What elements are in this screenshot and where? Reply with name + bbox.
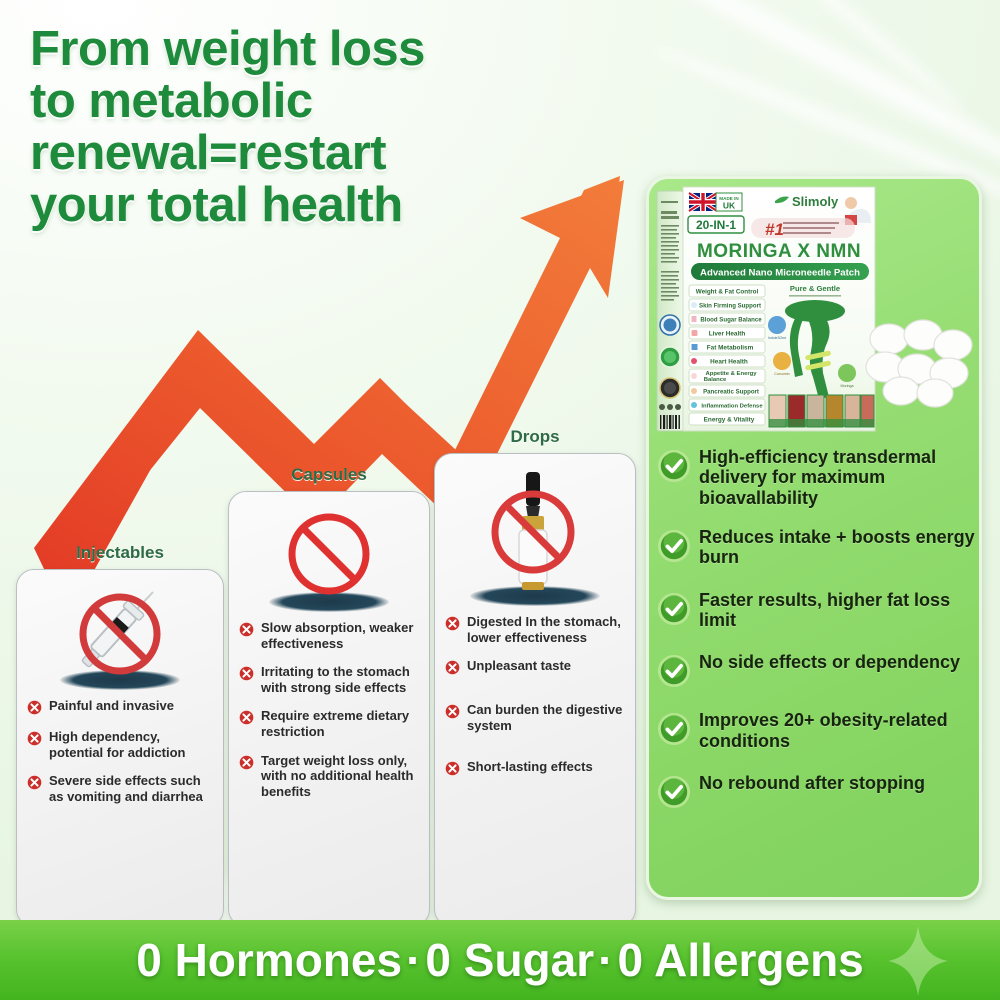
no-capsule-icon <box>274 508 384 612</box>
sparkle-icon <box>888 926 948 996</box>
list-item: Short-lasting effects <box>444 759 626 777</box>
svg-text:Slimoly: Slimoly <box>792 194 839 209</box>
microneedle-patches <box>865 319 975 409</box>
list-item: Slow absorption, weaker effectiveness <box>238 620 420 651</box>
cons-list: Slow absorption, weaker effectiveness Ir… <box>238 620 420 799</box>
red-x-icon <box>238 754 255 771</box>
svg-text:Pancreatic Support: Pancreatic Support <box>703 389 759 396</box>
svg-text:Blood Sugar Balance: Blood Sugar Balance <box>700 317 762 324</box>
benefit-text: No side effects or dependency <box>699 652 960 672</box>
no-dropper-bottle-icon <box>476 470 594 610</box>
con-text: Irritating to the stomach with strong si… <box>261 664 420 695</box>
svg-text:Heart Health: Heart Health <box>710 359 748 366</box>
benefit-text: No rebound after stopping <box>699 773 925 793</box>
product-package: MADE IN UK Slimoly 20-IN-1 <box>655 185 877 433</box>
red-x-icon <box>444 760 461 777</box>
svg-text:Weight & Fat Control: Weight & Fat Control <box>696 289 759 296</box>
package-feature-chips: Weight & Fat Control Skin Firming Suppor… <box>689 285 765 425</box>
svg-text:Balance: Balance <box>704 377 727 383</box>
red-x-icon <box>444 615 461 632</box>
svg-text:Liver Health: Liver Health <box>709 331 746 338</box>
list-item: Can burden the digestive system <box>444 702 626 733</box>
comparison-card-drops: Drops <box>434 427 636 901</box>
green-check-icon <box>657 712 691 746</box>
svg-text:Curcumin: Curcumin <box>774 372 789 376</box>
svg-text:Energy & Vitality: Energy & Vitality <box>704 417 755 424</box>
svg-text:20-IN-1: 20-IN-1 <box>696 218 736 232</box>
product-benefits-panel: MADE IN UK Slimoly 20-IN-1 <box>646 176 982 900</box>
claim-no-sugar: 0 Sugar <box>425 934 594 986</box>
headline-line-2: to metabolic <box>30 76 590 128</box>
product-infographic: From weight loss to metabolic renewal=re… <box>0 0 1000 1000</box>
benefit-item: Improves 20+ obesity-related conditions <box>657 710 979 751</box>
red-x-icon <box>444 659 461 676</box>
svg-text:#1: #1 <box>765 220 784 239</box>
comparison-card-capsules: Capsules Slow absorption, weaker effecti… <box>228 465 430 901</box>
benefit-item: High-efficiency transdermal delivery for… <box>657 447 979 508</box>
red-x-icon <box>26 699 43 716</box>
background-streak <box>731 0 969 117</box>
green-check-icon <box>657 592 691 626</box>
red-x-icon <box>238 621 255 638</box>
list-item: Target weight loss only, with no additio… <box>238 753 420 800</box>
con-text: Severe side effects such as vomiting and… <box>49 773 214 804</box>
list-item: Painful and invasive <box>26 698 214 716</box>
background-streak <box>584 0 1000 187</box>
card-body: Digested In the stomach, lower effective… <box>434 453 636 927</box>
banner-text: 0 Hormones·0 Sugar·0 Allergens <box>136 933 864 987</box>
list-item: High dependency, potential for addiction <box>26 729 214 760</box>
con-text: Target weight loss only, with no additio… <box>261 753 420 800</box>
svg-text:Pure & Gentle: Pure & Gentle <box>790 284 840 293</box>
red-x-icon <box>26 730 43 747</box>
red-x-icon <box>26 774 43 791</box>
svg-text:Indole3One: Indole3One <box>768 336 787 340</box>
green-check-icon <box>657 775 691 809</box>
benefit-item: Reduces intake + boosts energy burn <box>657 527 979 568</box>
red-x-icon <box>238 665 255 682</box>
svg-text:UK: UK <box>723 201 736 211</box>
con-text: High dependency, potential for addiction <box>49 729 214 760</box>
package-thumbnails <box>769 395 874 427</box>
green-check-icon <box>657 449 691 483</box>
con-text: Digested In the stomach, lower effective… <box>467 614 626 645</box>
separator-dot: · <box>598 934 613 986</box>
card-title: Capsules <box>228 465 430 485</box>
list-item: Digested In the stomach, lower effective… <box>444 614 626 645</box>
benefit-text: Faster results, higher fat loss limit <box>699 590 979 631</box>
svg-text:Skin Firming Support: Skin Firming Support <box>699 303 761 310</box>
cons-list: Digested In the stomach, lower effective… <box>444 614 626 777</box>
green-check-icon <box>657 529 691 563</box>
cons-list: Painful and invasive High dependency, po… <box>26 698 214 804</box>
list-item: Require extreme dietary restriction <box>238 708 420 739</box>
red-x-icon <box>444 703 461 720</box>
con-text: Unpleasant taste <box>467 658 571 674</box>
claims-banner: 0 Hormones·0 Sugar·0 Allergens <box>0 920 1000 1000</box>
ingredient-bubble: Moringa <box>838 364 856 388</box>
list-item: Unpleasant taste <box>444 658 626 676</box>
benefit-text: Improves 20+ obesity-related conditions <box>699 710 979 751</box>
separator-dot: · <box>406 934 421 986</box>
green-check-icon <box>657 654 691 688</box>
benefit-text: High-efficiency transdermal delivery for… <box>699 447 979 508</box>
benefit-item: No rebound after stopping <box>657 773 979 809</box>
card-body: Slow absorption, weaker effectiveness Ir… <box>228 491 430 927</box>
con-text: Can burden the digestive system <box>467 702 626 733</box>
card-illustration <box>238 500 420 618</box>
card-title: Drops <box>434 427 636 447</box>
svg-text:Advanced Nano Microneedle Patc: Advanced Nano Microneedle Patch <box>700 268 860 279</box>
made-in-uk-badge: MADE IN UK <box>689 193 742 211</box>
claim-no-allergens: 0 Allergens <box>617 934 863 986</box>
rank-badge: #1 <box>751 218 855 239</box>
list-item: Irritating to the stomach with strong si… <box>238 664 420 695</box>
svg-text:MORINGA X NMN: MORINGA X NMN <box>697 241 861 262</box>
claim-no-hormones: 0 Hormones <box>136 934 402 986</box>
con-text: Require extreme dietary restriction <box>261 708 420 739</box>
card-title: Injectables <box>16 543 224 563</box>
benefit-item: No side effects or dependency <box>657 652 979 688</box>
list-item: Severe side effects such as vomiting and… <box>26 773 214 804</box>
svg-text:Fat Metabolism: Fat Metabolism <box>707 345 754 352</box>
benefit-text: Reduces intake + boosts energy burn <box>699 527 979 568</box>
svg-text:Inflammation Defense: Inflammation Defense <box>701 404 763 410</box>
card-illustration <box>444 462 626 612</box>
ingredient-bubble: Curcumin <box>773 352 791 376</box>
headline-line-1: From weight loss <box>30 24 590 76</box>
con-text: Slow absorption, weaker effectiveness <box>261 620 420 651</box>
no-syringe-icon <box>61 586 179 694</box>
benefits-list: High-efficiency transdermal delivery for… <box>657 447 979 828</box>
benefit-item: Faster results, higher fat loss limit <box>657 590 979 631</box>
card-illustration <box>26 578 214 696</box>
combo-badge: 20-IN-1 <box>688 216 744 233</box>
ingredient-bubble: Indole3One <box>768 316 787 340</box>
svg-text:Moringa: Moringa <box>841 384 854 388</box>
card-body: Painful and invasive High dependency, po… <box>16 569 224 927</box>
comparison-card-injectables: Injectables <box>16 543 224 901</box>
red-x-icon <box>238 709 255 726</box>
con-text: Painful and invasive <box>49 698 174 714</box>
con-text: Short-lasting effects <box>467 759 593 775</box>
